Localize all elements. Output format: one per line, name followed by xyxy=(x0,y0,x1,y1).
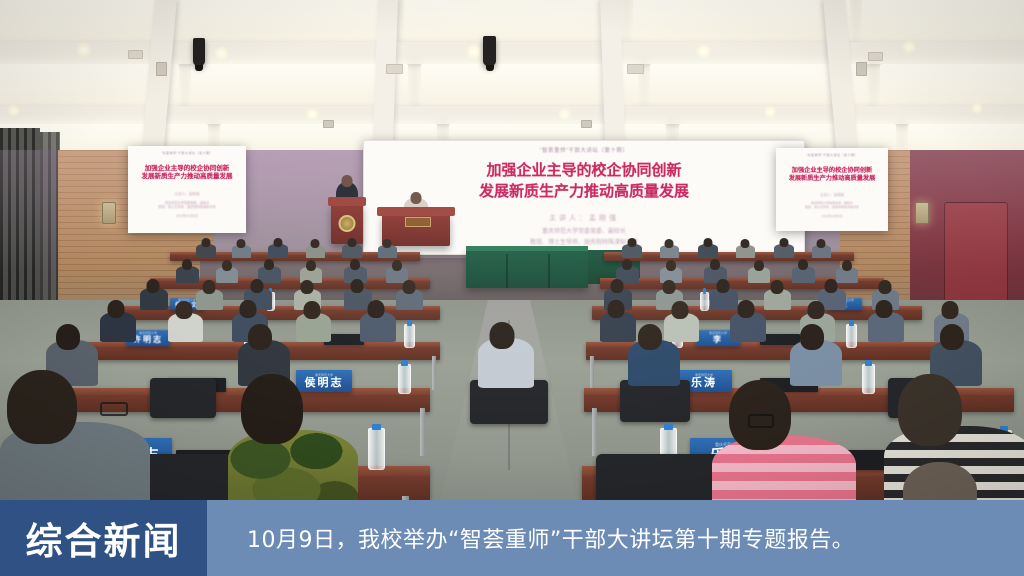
audience-head xyxy=(666,260,676,271)
placard-org-label: 重庆师范大学 xyxy=(139,332,157,335)
ceiling-vent xyxy=(128,50,143,59)
audience-head xyxy=(741,239,750,248)
audience-head xyxy=(403,280,416,294)
side-screen-right-sub-1: 主讲人：孟刚强 xyxy=(820,193,844,198)
audience-head xyxy=(800,324,824,350)
caption-bar: 综合新闻 10月9日，我校举办“智荟重师”干部大讲坛第十期专题报告。 xyxy=(0,500,1024,576)
ceiling-vent xyxy=(386,64,403,74)
audience-head xyxy=(348,238,357,247)
ceiling-speaker xyxy=(156,62,167,76)
main-screen-eyebrow: “智荟重师”干部大讲坛（第十期） xyxy=(540,146,629,154)
audience-head xyxy=(304,301,321,319)
audience-head xyxy=(147,279,160,293)
audience-head xyxy=(182,259,192,270)
audience-head xyxy=(608,300,625,318)
side-screen-left-sub-4: 2024年10月9日 xyxy=(176,214,198,219)
side-screen-left-title-1: 加强企业主导的校企协同创新 xyxy=(145,165,230,173)
audience-head xyxy=(672,301,689,319)
placard-org-label: 重庆师范大学 xyxy=(315,374,333,377)
ceiling-downlight xyxy=(902,40,916,54)
audience-head xyxy=(311,239,320,248)
audience-head xyxy=(842,260,852,271)
ceiling-downlight xyxy=(696,44,711,59)
audience-head xyxy=(392,260,402,271)
ceiling-light-panel xyxy=(0,0,162,42)
ceiling-light-panel xyxy=(174,0,391,42)
ceiling-light-panel xyxy=(880,64,1024,106)
ceiling-speaker xyxy=(323,120,334,128)
audience-head-foreground-striped xyxy=(898,374,962,446)
audience-head xyxy=(203,280,216,294)
side-screen-right: “智荟重师”干部大讲坛（第十期） 加强企业主导的校企协同创新 发展新质生产力推动… xyxy=(776,148,888,231)
main-screen-title-line-1: 加强企业主导的校企协同创新 xyxy=(486,162,681,181)
ceiling-projector xyxy=(193,38,205,66)
news-photo: “智荟重师”干部大讲坛（第十期） 加强企业主导的校企协同创新 发展新质生产力推动… xyxy=(0,0,1024,576)
audience-head xyxy=(876,300,893,318)
wall-sconce-right xyxy=(915,202,929,224)
ceiling-vent xyxy=(627,64,644,74)
ceiling-downlight xyxy=(558,108,571,121)
ceiling-speaker xyxy=(581,120,592,128)
ceiling-light-panel xyxy=(862,0,1024,42)
standing-speaker-head xyxy=(342,175,353,187)
audience-head xyxy=(710,259,720,270)
audience-head xyxy=(264,259,274,270)
lectern-top-surface xyxy=(328,197,365,206)
side-screen-left: “智荟重师”干部大讲坛（第十期） 加强企业主导的校企协同创新 发展新质生产力推动… xyxy=(128,146,246,233)
audience-head-foreground-left xyxy=(7,370,77,444)
ceiling-light-panel xyxy=(633,0,850,42)
audience-head xyxy=(274,238,283,247)
audience-head xyxy=(306,260,316,271)
side-screen-left-eyebrow: “智荟重师”干部大讲坛（第十期） xyxy=(161,151,213,155)
eyeglasses-icon xyxy=(748,414,774,428)
ceiling-downlight xyxy=(306,108,319,121)
ceiling-downlight xyxy=(466,44,482,60)
side-screen-right-sub-4: 2024年10月9日 xyxy=(822,214,843,219)
main-screen-title-line-2: 发展新质生产力推动高质量发展 xyxy=(479,183,689,202)
wall-sconce-left xyxy=(102,202,116,224)
audience-head xyxy=(628,238,637,247)
caption-headline: 10月9日，我校举办“智荟重师”干部大讲坛第十期专题报告。 xyxy=(247,522,854,554)
main-screen-subtitle-1: 主讲人：孟刚强 xyxy=(549,214,619,225)
audience-head xyxy=(248,324,272,350)
eyeglasses-icon xyxy=(100,402,128,416)
audience-head xyxy=(237,239,246,248)
water-bottle xyxy=(368,428,385,470)
ceiling-projector xyxy=(483,36,496,66)
audience-head xyxy=(754,260,764,271)
audience-head xyxy=(942,301,959,319)
side-screen-right-eyebrow: “智荟重师”干部大讲坛（第十期） xyxy=(806,153,858,157)
audience-head xyxy=(622,259,632,270)
audience-head xyxy=(717,279,730,293)
audience-head xyxy=(251,279,264,293)
audience-head xyxy=(825,279,838,293)
audience-head xyxy=(808,301,825,319)
lectern-nameplate xyxy=(405,217,431,227)
audience-head xyxy=(350,259,360,270)
audience-head xyxy=(879,280,892,294)
seat-row-foreground: 重庆师范大学 侯明志 重庆师范大学 乐涛 xyxy=(0,380,1024,510)
audience-head-foreground-camo xyxy=(241,374,303,444)
audience-head xyxy=(940,324,964,350)
audience-head xyxy=(798,259,808,270)
audience-head xyxy=(665,239,674,248)
audience-head xyxy=(240,300,257,318)
audience-head xyxy=(771,280,784,294)
placard-org-label: 重庆师范大学 xyxy=(695,374,713,377)
side-screen-right-sub-3: 教授、博士生导师、国务院特殊津贴专家 xyxy=(805,205,859,210)
audience-head xyxy=(780,238,789,247)
audience-head xyxy=(490,322,515,349)
news-category-label: 综合新闻 xyxy=(26,511,182,565)
ceiling-vent xyxy=(868,52,883,61)
audience-head xyxy=(108,300,125,318)
audience-head xyxy=(638,324,662,350)
side-screen-left-sub-1: 主讲人：孟刚强 xyxy=(174,192,199,197)
ceiling-light-panel xyxy=(404,0,621,42)
caption-text-area: 10月9日，我校举办“智荟重师”干部大讲坛第十期专题报告。 xyxy=(207,500,1024,576)
lectern-center-top-surface xyxy=(377,207,456,216)
audience-head xyxy=(383,239,392,248)
audience-head xyxy=(738,300,755,318)
ceiling-downlight xyxy=(214,46,229,61)
audience-head xyxy=(202,238,211,247)
placard-org-label: 重庆师范大学 xyxy=(709,332,727,335)
audience-head xyxy=(176,301,193,319)
ceiling-downlight xyxy=(971,102,983,114)
audience-head xyxy=(56,324,80,350)
audience-head xyxy=(704,238,713,247)
audience-head xyxy=(817,239,826,248)
audience-head xyxy=(351,279,364,293)
news-category-badge: 综合新闻 xyxy=(0,500,207,576)
university-emblem-icon xyxy=(339,215,356,232)
ceiling-speaker xyxy=(856,62,867,76)
side-screen-right-title-2: 发展新质生产力推动高质量发展 xyxy=(789,175,876,183)
side-screen-left-title-2: 发展新质生产力推动高质量发展 xyxy=(142,173,233,181)
side-screen-right-title-1: 加强企业主导的校企协同创新 xyxy=(792,167,872,175)
audience-head xyxy=(301,280,314,294)
audience-head xyxy=(663,280,676,294)
audience-head xyxy=(611,279,624,293)
audience-head xyxy=(222,260,232,271)
side-screen-left-sub-3: 教授、博士生导师、国务院特殊津贴专家 xyxy=(158,205,215,210)
audience-head xyxy=(368,300,385,318)
seated-speaker-head xyxy=(411,192,422,204)
